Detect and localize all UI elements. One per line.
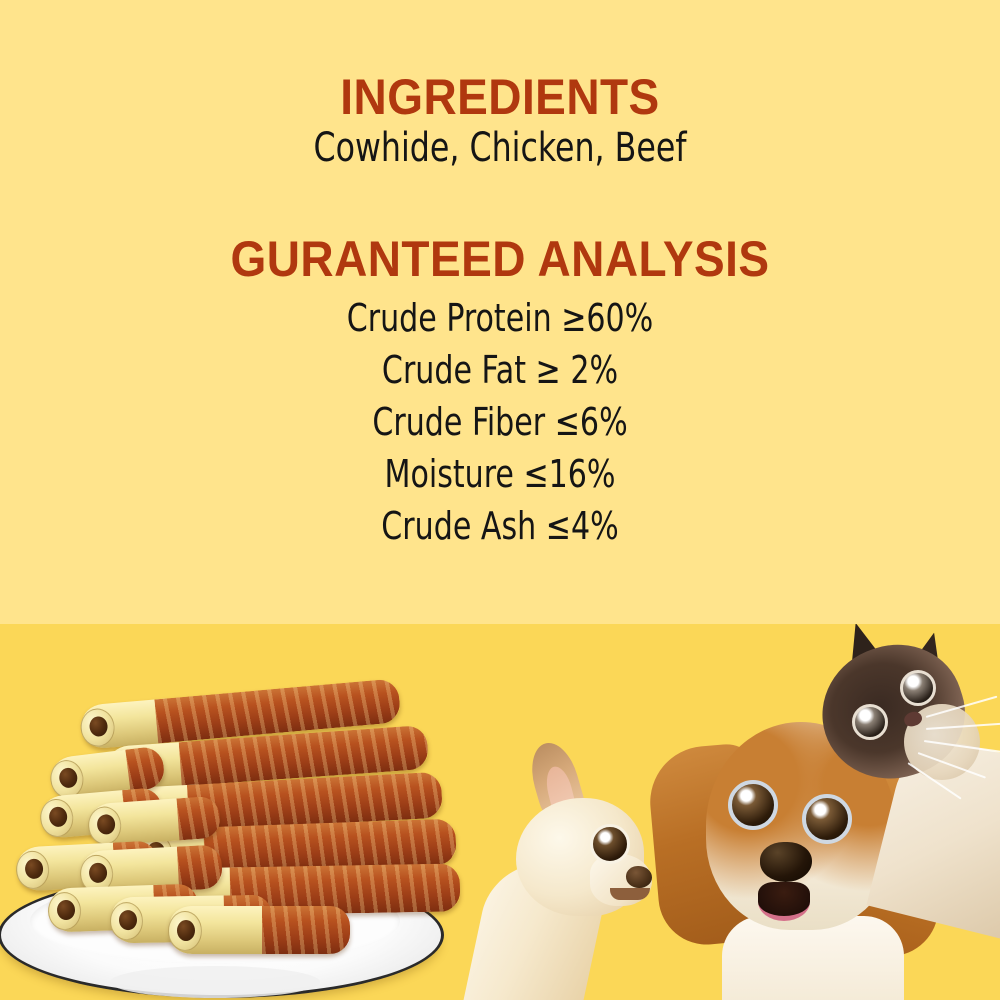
ingredients-heading: INGREDIENTS <box>40 72 960 122</box>
analysis-row: Moisture ≤16% <box>60 448 940 500</box>
chihuahua-eye <box>590 824 630 864</box>
product-photo-panel <box>0 624 1000 1000</box>
product-label-page: INGREDIENTS Cowhide, Chicken, Beef GURAN… <box>0 0 1000 1000</box>
cat-left-eye <box>852 704 888 740</box>
analysis-row: Crude Protein ≥60% <box>60 292 940 344</box>
guaranteed-analysis-heading: GURANTEED ANALYSIS <box>40 234 960 284</box>
cat-right-eye <box>900 670 936 706</box>
spaniel-open-mouth <box>758 882 810 921</box>
himalayan-cat-image <box>808 624 1000 916</box>
plate-foot <box>110 966 320 998</box>
spaniel-nose <box>760 842 812 882</box>
analysis-row: Crude Ash ≤4% <box>60 500 940 552</box>
nutrition-text-panel: INGREDIENTS Cowhide, Chicken, Beef GURAN… <box>0 0 1000 624</box>
treat-roll <box>170 906 350 954</box>
guaranteed-analysis-list: Crude Protein ≥60% Crude Fat ≥ 2% Crude … <box>0 292 1000 552</box>
ingredients-list-text: Cowhide, Chicken, Beef <box>60 128 940 168</box>
spaniel-left-eye <box>728 780 778 830</box>
analysis-row: Crude Fiber ≤6% <box>60 396 940 448</box>
chihuahua-nose <box>626 866 652 888</box>
analysis-row: Crude Fat ≥ 2% <box>60 344 940 396</box>
chihuahua-mouth <box>610 888 650 900</box>
treats-plate-image <box>0 644 460 1000</box>
